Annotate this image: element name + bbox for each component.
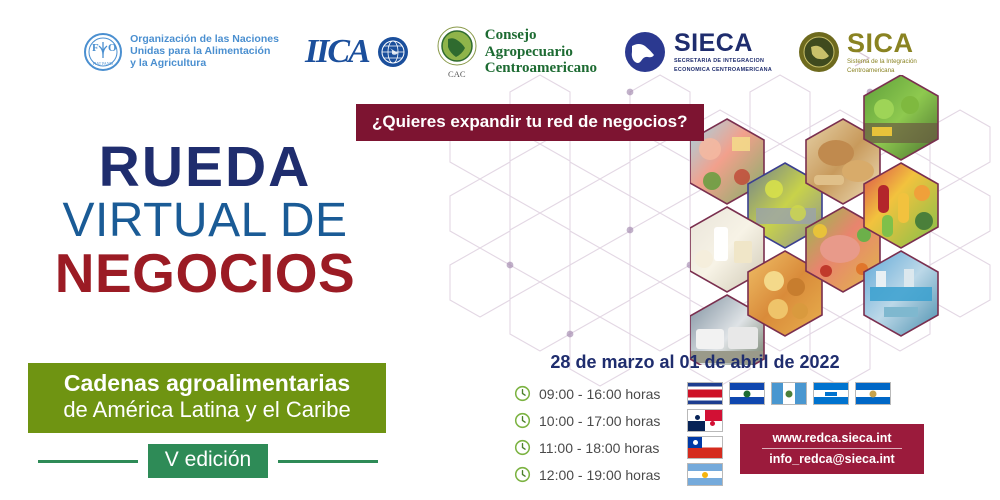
clock-icon — [514, 439, 531, 456]
clock-icon — [514, 466, 531, 483]
event-dates: 28 de marzo al 01 de abril de 2022 — [505, 352, 885, 373]
sica-sub-2: Centroamericana — [847, 67, 917, 74]
schedule-flags — [687, 463, 723, 486]
edition-rule-right — [278, 460, 378, 463]
contact-box[interactable]: www.redca.sieca.int info_redca@sieca.int — [740, 424, 924, 474]
clock-icon — [514, 385, 531, 402]
svg-text:F: F — [92, 42, 99, 54]
schedule-flags — [687, 436, 723, 459]
sica-sub-1: Sistema de la Integración — [847, 58, 917, 65]
contact-separator — [762, 448, 902, 449]
flag-honduras — [813, 382, 849, 405]
iica-wordmark: IICA — [305, 33, 369, 71]
schedule-time: 09:00 - 16:00 horas — [539, 386, 687, 402]
schedule-time: 10:00 - 17:00 horas — [539, 413, 687, 429]
logo-cac: CAC Consejo Agropecuario Centroamericano — [436, 26, 597, 79]
fao-name-block: Organización de las Naciones Unidas para… — [130, 34, 279, 70]
flag-costa-rica — [687, 382, 723, 405]
schedule-time: 11:00 - 18:00 horas — [539, 440, 687, 456]
schedule-flags — [687, 409, 723, 432]
headline-rueda: RUEDA — [0, 140, 410, 196]
iica-globe-icon — [376, 35, 410, 69]
cac-emblem-icon — [436, 26, 478, 68]
edition-badge: V edición — [148, 444, 268, 478]
flag-panama — [687, 409, 723, 432]
subtitle-band: Cadenas agroalimentarias de América Lati… — [28, 363, 386, 433]
sica-name-block: SICA Sistema de la Integración Centroame… — [847, 30, 917, 74]
flag-guatemala — [771, 382, 807, 405]
flag-chile — [687, 436, 723, 459]
sieca-name-block: SIECA SECRETARIA DE INTEGRACION ECONOMIC… — [674, 31, 772, 72]
event-headline: RUEDA VIRTUAL DE NEGOCIOS — [0, 140, 410, 301]
logo-iica: IICA — [305, 33, 410, 71]
fao-line-3: y la Agricultura — [130, 58, 279, 70]
cac-line-1: Consejo — [485, 27, 597, 44]
logo-sieca: SIECA SECRETARIA DE INTEGRACION ECONOMIC… — [623, 30, 772, 74]
schedule-row: 09:00 - 16:00 horas — [514, 380, 891, 407]
promotional-banner: F O FIAT PANIS Organización de las Nacio… — [0, 0, 1000, 500]
contact-website[interactable]: www.redca.sieca.int — [748, 429, 916, 447]
flag-el-salvador — [729, 382, 765, 405]
contact-email[interactable]: info_redca@sieca.int — [748, 450, 916, 468]
svg-text:FIAT PANIS: FIAT PANIS — [93, 61, 114, 66]
cac-abbr: CAC — [448, 69, 465, 79]
edition-row: V edición — [18, 443, 398, 479]
subtitle-line-2: de América Latina y el Caribe — [38, 397, 376, 423]
sieca-map-icon — [623, 30, 667, 74]
logo-sica: SICA Sistema de la Integración Centroame… — [798, 30, 917, 74]
subtitle-line-1: Cadenas agroalimentarias — [38, 370, 376, 397]
schedule-flags — [687, 382, 891, 405]
fao-emblem-icon: F O FIAT PANIS — [83, 32, 123, 72]
tagline-ribbon: ¿Quieres expandir tu red de negocios? — [356, 104, 704, 141]
sieca-sub-2: ECONOMICA CENTROAMERICANA — [674, 67, 772, 73]
cac-line-3: Centroamericano — [485, 60, 597, 77]
sica-wordmark: SICA — [847, 30, 917, 57]
sica-emblem-icon — [798, 31, 840, 73]
schedule-time: 12:00 - 19:00 horas — [539, 467, 687, 483]
headline-virtual: VIRTUAL DE — [0, 196, 410, 246]
svg-text:O: O — [108, 42, 117, 54]
partner-logo-bar: F O FIAT PANIS Organización de las Nacio… — [0, 14, 1000, 90]
headline-negocios: NEGOCIOS — [0, 246, 410, 301]
edition-rule-left — [38, 460, 138, 463]
sieca-wordmark: SIECA — [674, 31, 772, 56]
flag-argentina — [687, 463, 723, 486]
logo-fao: F O FIAT PANIS Organización de las Nacio… — [83, 32, 279, 72]
cac-name-block: Consejo Agropecuario Centroamericano — [485, 27, 597, 78]
clock-icon — [514, 412, 531, 429]
cac-emblem-block: CAC — [436, 26, 478, 79]
cac-line-2: Agropecuario — [485, 44, 597, 61]
flag-nicaragua — [855, 382, 891, 405]
honeycomb-photo-collage — [690, 75, 1000, 365]
sieca-sub-1: SECRETARIA DE INTEGRACION — [674, 58, 772, 64]
